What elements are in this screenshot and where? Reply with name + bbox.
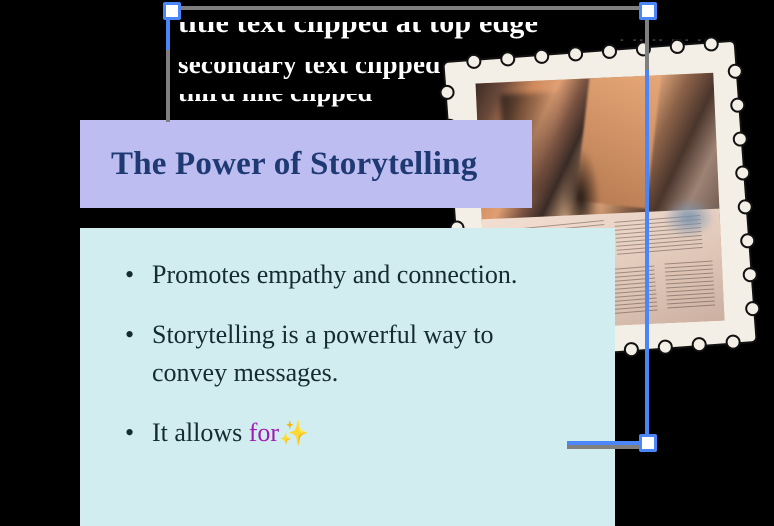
page-title: The Power of Storytelling [111, 145, 477, 183]
list-item: • Storytelling is a powerful way to conv… [80, 316, 572, 392]
handle-bottom-right[interactable] [639, 434, 657, 452]
list-item: • Promotes empathy and connection. [80, 256, 572, 294]
list-item-text: It allows [152, 418, 249, 447]
list-item-text: Storytelling is a powerful way to convey… [152, 320, 494, 387]
handle-top-left[interactable] [163, 2, 181, 20]
list-item: • It allows for✨ [80, 414, 572, 452]
list-item-accent: for [249, 418, 279, 447]
bullet-icon: • [125, 316, 134, 354]
selection-edge-top[interactable] [172, 6, 648, 10]
obscured-line-1-text: title text clipped at top edge [178, 22, 648, 38]
title-banner[interactable]: The Power of Storytelling [80, 120, 532, 208]
list-item-text: Promotes empathy and connection. [152, 260, 517, 289]
slide-canvas: title text clipped at top edge secondary… [0, 0, 774, 526]
bullet-icon: • [125, 256, 134, 294]
selection-edge-left-dim [166, 50, 170, 122]
selection-edge-bottom-dim [567, 445, 643, 449]
handle-top-right[interactable] [639, 2, 657, 20]
sparkles-icon: ✨ [279, 419, 309, 447]
selection-edge-right[interactable] [645, 10, 649, 440]
bullet-icon: • [125, 414, 134, 452]
content-panel[interactable]: • Promotes empathy and connection. • Sto… [80, 228, 615, 526]
bullet-list: • Promotes empathy and connection. • Sto… [80, 228, 615, 452]
